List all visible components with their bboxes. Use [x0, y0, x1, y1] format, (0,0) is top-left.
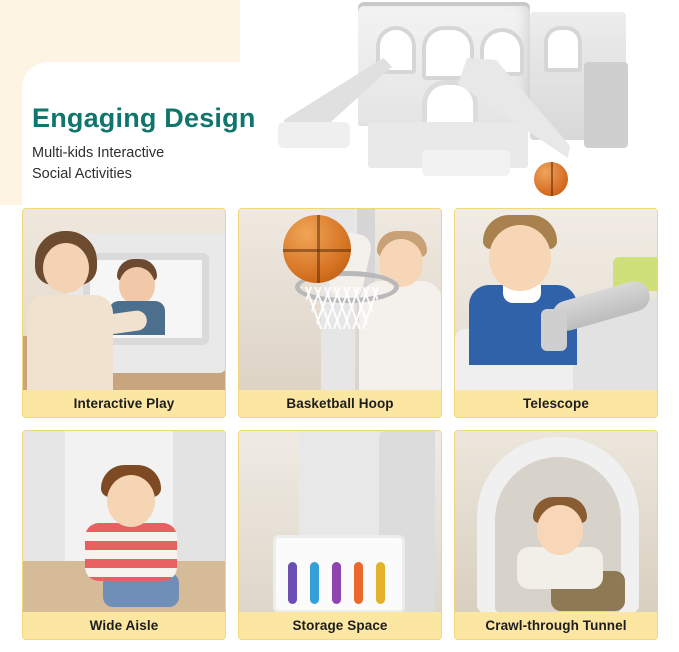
feature-card-telescope[interactable]: Telescope: [454, 208, 658, 418]
page-title: Engaging Design: [32, 104, 256, 134]
climbing-wall: [584, 62, 628, 148]
feature-caption: Telescope: [455, 390, 657, 417]
feature-card-interactive-play[interactable]: Interactive Play: [22, 208, 226, 418]
feature-photo-telescope: [455, 209, 657, 391]
feature-card-storage-space[interactable]: Storage Space: [238, 430, 442, 640]
basketball: [534, 162, 568, 196]
wing-window: [544, 26, 582, 72]
feature-card-wide-aisle[interactable]: Wide Aisle: [22, 430, 226, 640]
feature-caption: Wide Aisle: [23, 612, 225, 639]
hero-banner: Engaging Design Multi-kids Interactive S…: [0, 0, 679, 205]
feature-photo-wide-aisle: [23, 431, 225, 613]
hero-subtitle-line-2: Social Activities: [32, 164, 256, 185]
feature-caption: Basketball Hoop: [239, 390, 441, 417]
feature-photo-storage-space: [239, 431, 441, 613]
feature-grid: Interactive Play Basketball Hoop: [22, 208, 658, 640]
feature-caption: Interactive Play: [23, 390, 225, 417]
feature-card-basketball-hoop[interactable]: Basketball Hoop: [238, 208, 442, 418]
feature-caption: Storage Space: [239, 612, 441, 639]
feature-photo-crawl-through-tunnel: [455, 431, 657, 613]
feature-photo-interactive-play: [23, 209, 225, 391]
feature-caption: Crawl-through Tunnel: [455, 612, 657, 639]
feature-photo-basketball-hoop: [239, 209, 441, 391]
left-slide-runout: [278, 122, 350, 148]
right-slide-runout: [422, 150, 510, 176]
product-illustration: [272, 2, 672, 202]
feature-card-crawl-through-tunnel[interactable]: Crawl-through Tunnel: [454, 430, 658, 640]
hero-text-block: Engaging Design Multi-kids Interactive S…: [32, 104, 256, 185]
hero-subtitle-line-1: Multi-kids Interactive: [32, 143, 256, 164]
basketball-icon: [283, 215, 351, 283]
